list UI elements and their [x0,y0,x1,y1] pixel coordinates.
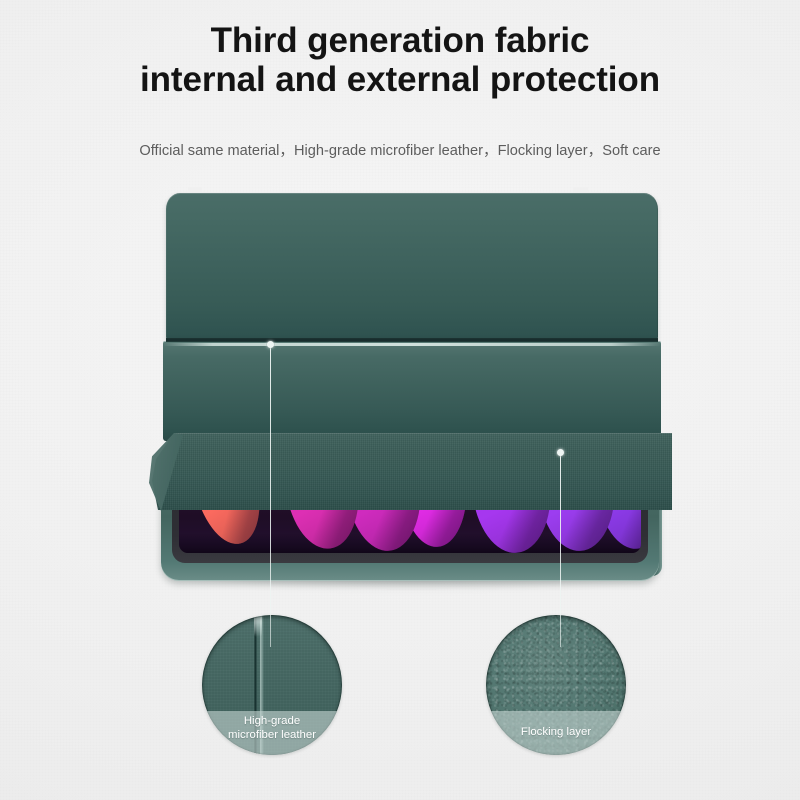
case-front-flap-panel [152,433,672,510]
detail-bubble-flocking-layer: Flocking layer [486,615,626,755]
page-title: Third generation fabric internal and ext… [0,21,800,99]
callout-line-microfiber-leather [270,347,271,647]
product-marketing-banner: Third generation fabric internal and ext… [0,0,800,800]
caption-line-2: microfiber leather [228,729,316,743]
detail-bubble-caption: Flocking layer [486,711,626,755]
product-photo-tablet-folio-case [152,190,672,600]
callout-dot-flocking-layer [557,449,564,456]
case-back-cover-panel [166,193,658,341]
caption-line-1: High-grade [244,715,300,729]
detail-bubble-caption: High-grade microfiber leather [202,711,342,755]
page-subtitle: Official same material，High-grade microf… [0,142,800,160]
case-top-notch-left-icon [188,187,202,192]
detail-bubble-microfiber-leather: High-grade microfiber leather [202,615,342,755]
headline-line-1: Third generation fabric [0,21,800,60]
caption-line-1: Flocking layer [521,726,591,740]
case-top-notch-right-icon [573,187,588,192]
case-kickstand-panel [163,341,661,441]
callout-line-flocking-layer [560,455,561,647]
headline-line-2: internal and external protection [0,60,800,99]
callout-dot-microfiber-leather [267,341,274,348]
case-fold-seam [166,338,658,342]
